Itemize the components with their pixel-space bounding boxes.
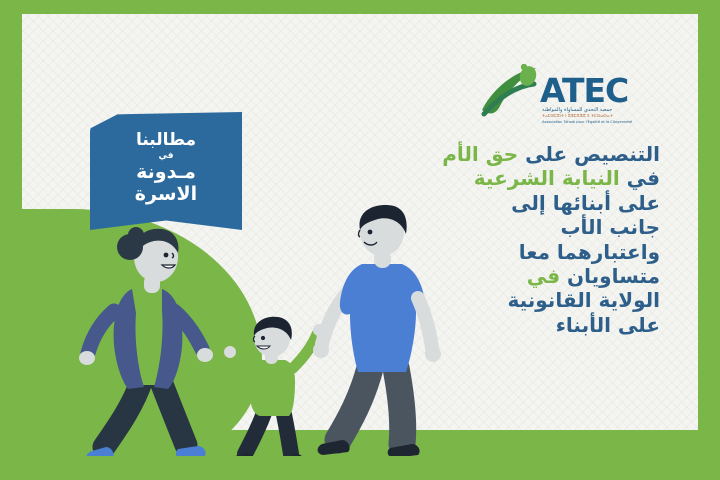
headline-line-1-segment-1: التنصيص على bbox=[518, 142, 660, 166]
logo-tagline-tifinagh: ⵜⴰⵎⵙⵎⵓⵏⵜ ⵏ ⵓⵣⵎⵣⵣⵓ ⵉ ⵜⵎⵙⴰⵙⴰⵜ bbox=[542, 113, 614, 118]
banner-line-4: الاسرة bbox=[135, 184, 197, 205]
headline-line-2-segment-1: في bbox=[620, 166, 660, 190]
logo-tagline-french: Association Tahadi pour l'Egalité et la … bbox=[542, 120, 633, 124]
headline-line-4-segment-1: جانب الأب bbox=[560, 215, 660, 239]
banner-line-3: مـدونة bbox=[136, 162, 196, 183]
headline-line-8-segment-1: على الأبناء bbox=[556, 313, 660, 337]
headline-line-6-segment-2: في bbox=[527, 264, 560, 288]
headline-line-2: في النيابة الشرعية bbox=[320, 166, 660, 190]
poster-root: ATEC جمعية التحدي للمساواة والمواطنة ⵜⴰⵎ… bbox=[0, 0, 720, 480]
headline-line-7-segment-1: الولاية القانونية bbox=[507, 288, 660, 312]
atec-logo: ATEC جمعية التحدي للمساواة والمواطنة ⵜⴰⵎ… bbox=[480, 64, 650, 126]
poster-canvas: ATEC جمعية التحدي للمساواة والمواطنة ⵜⴰⵎ… bbox=[22, 14, 698, 456]
banner-line-2: في bbox=[159, 151, 174, 161]
logo-wordmark: ATEC bbox=[540, 71, 628, 110]
walking-woman-figure bbox=[74, 219, 224, 456]
demands-banner: مطالبنا في مـدونة الاسرة bbox=[90, 112, 242, 230]
headline-line-3-segment-1: على أبنائها إلى bbox=[511, 191, 660, 215]
headline-line-2-segment-2: النيابة الشرعية bbox=[474, 166, 620, 190]
walking-man-figure bbox=[310, 202, 445, 456]
headline-line-1: التنصيص على حق الأم bbox=[320, 142, 660, 166]
headline-line-5-segment-1: واعتبارهما معا bbox=[519, 240, 660, 264]
banner-line-1: مطالبنا bbox=[136, 131, 196, 150]
headline-line-1-segment-2: حق الأم bbox=[442, 142, 518, 166]
green-swoosh-person-icon bbox=[482, 64, 539, 114]
headline-line-6-segment-1: متساويان bbox=[560, 264, 660, 288]
